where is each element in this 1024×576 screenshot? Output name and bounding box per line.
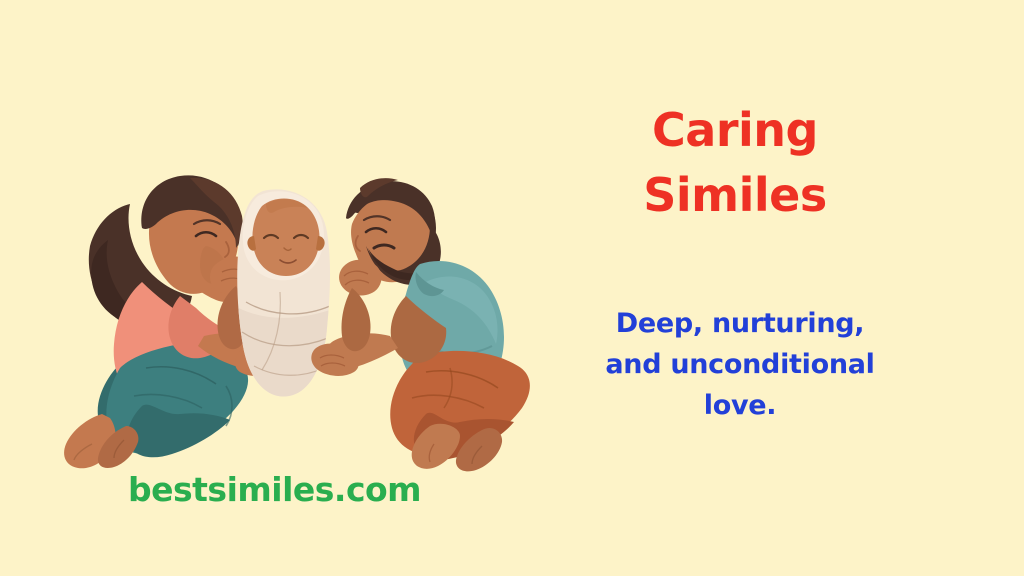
subtitle-line-2: and unconditional [520, 344, 960, 385]
title-line-1: Caring [520, 98, 950, 163]
subtitle-line-3: love. [520, 385, 960, 426]
father-figure [311, 178, 530, 471]
page-title: Caring Similes [520, 98, 950, 229]
baby-figure [235, 189, 330, 416]
text-panel: Caring Similes Deep, nurturing, and unco… [520, 0, 1024, 576]
subtitle-text: Deep, nurturing, and unconditional love. [520, 303, 960, 426]
title-line-2: Similes [520, 163, 950, 228]
poster-canvas: Caring Similes Deep, nurturing, and unco… [0, 0, 1024, 576]
family-illustration [30, 96, 550, 476]
website-watermark: bestsimiles.com [128, 470, 421, 509]
subtitle-line-1: Deep, nurturing, [520, 303, 960, 344]
